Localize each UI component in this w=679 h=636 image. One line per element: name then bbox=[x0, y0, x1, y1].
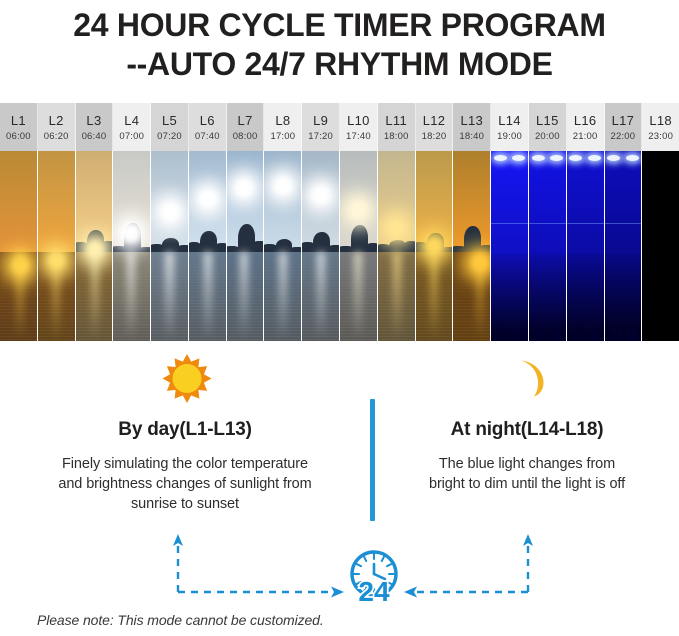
loop-right-arrowhead-up bbox=[523, 534, 533, 546]
day-description-line: Finely simulating the color temperature bbox=[8, 454, 362, 474]
led-lamp bbox=[494, 155, 507, 161]
timeline-cell-label: L5 bbox=[162, 113, 177, 128]
strip-panel-l7 bbox=[227, 151, 265, 341]
timeline-cell-label: L15 bbox=[536, 113, 559, 128]
timeline-cell-l2[interactable]: L206:20 bbox=[38, 103, 76, 151]
panel-led-row bbox=[567, 153, 604, 163]
timeline-cell-time: 06:40 bbox=[82, 131, 107, 142]
timeline-cell-time: 07:00 bbox=[119, 131, 144, 142]
section-divider bbox=[370, 399, 375, 521]
strip-panel-l14 bbox=[491, 151, 529, 341]
timeline-cell-time: 08:00 bbox=[233, 131, 258, 142]
panel-sun-reflection bbox=[165, 252, 173, 341]
strip-panel-l18 bbox=[642, 151, 679, 341]
timeline-cell-l17[interactable]: L1722:00 bbox=[605, 103, 643, 151]
panel-horizon-silhouette bbox=[453, 218, 490, 252]
timeline-cell-l16[interactable]: L1621:00 bbox=[567, 103, 605, 151]
night-description: The blue light changes from bright to di… bbox=[382, 454, 672, 494]
cycle-loop-diagram bbox=[0, 528, 679, 600]
panel-sun-reflection bbox=[204, 252, 212, 341]
timeline-cell-label: L6 bbox=[200, 113, 215, 128]
panel-horizon-silhouette bbox=[227, 218, 264, 252]
timeline-cell-l13[interactable]: L1318:40 bbox=[453, 103, 491, 151]
led-lamp bbox=[569, 155, 582, 161]
led-lamp bbox=[512, 155, 525, 161]
strip-panel-l4 bbox=[113, 151, 151, 341]
clock-24-icon: 24 bbox=[341, 548, 407, 604]
light-cycle-strip bbox=[0, 151, 679, 341]
panel-sun-reflection bbox=[91, 252, 99, 341]
panel-sun-glow bbox=[471, 254, 489, 272]
timeline-cell-l14[interactable]: L1419:00 bbox=[491, 103, 529, 151]
timeline-cell-l6[interactable]: L607:40 bbox=[189, 103, 227, 151]
timeline-cell-time: 22:00 bbox=[611, 131, 636, 142]
timeline-cell-l15[interactable]: L1520:00 bbox=[529, 103, 567, 151]
timeline-cell-time: 07:40 bbox=[195, 131, 220, 142]
timeline-cell-time: 18:20 bbox=[422, 131, 447, 142]
strip-panel-l11 bbox=[378, 151, 416, 341]
strip-panel-l15 bbox=[529, 151, 567, 341]
led-lamp bbox=[532, 155, 545, 161]
panel-horizon-silhouette bbox=[151, 218, 188, 252]
led-lamp bbox=[626, 155, 639, 161]
timeline-cell-label: L3 bbox=[86, 113, 101, 128]
panel-night-background bbox=[642, 151, 679, 341]
panel-waterline bbox=[605, 223, 642, 224]
timeline-cell-label: L17 bbox=[612, 113, 635, 128]
timeline-cell-l1[interactable]: L106:00 bbox=[0, 103, 38, 151]
legend-icons bbox=[0, 349, 679, 409]
panel-waterline bbox=[529, 223, 566, 224]
title-line-2: --AUTO 24/7 RHYTHM MODE bbox=[0, 45, 679, 84]
panel-plants bbox=[529, 254, 566, 341]
day-section: By day(L1-L13) Finely simulating the col… bbox=[8, 418, 362, 514]
night-description-line: The blue light changes from bbox=[382, 454, 672, 474]
timeline-cell-time: 17:00 bbox=[270, 131, 295, 142]
timeline-cell-l12[interactable]: L1218:20 bbox=[416, 103, 454, 151]
led-lamp bbox=[550, 155, 563, 161]
strip-panel-l9 bbox=[302, 151, 340, 341]
strip-panel-l5 bbox=[151, 151, 189, 341]
timeline-cell-label: L9 bbox=[313, 113, 328, 128]
timeline-cell-l18[interactable]: L1823:00 bbox=[642, 103, 679, 151]
panel-sun-glow bbox=[86, 240, 104, 258]
panel-sun-reflection bbox=[430, 252, 438, 341]
night-description-line: bright to dim until the light is off bbox=[382, 474, 672, 494]
timeline-cell-label: L12 bbox=[423, 113, 446, 128]
timeline-cell-label: L4 bbox=[124, 113, 139, 128]
night-title: At night(L14-L18) bbox=[382, 418, 672, 442]
strip-panel-l16 bbox=[567, 151, 605, 341]
strip-panel-l13 bbox=[453, 151, 491, 341]
timeline-cell-time: 06:00 bbox=[6, 131, 31, 142]
timeline-cell-label: L18 bbox=[649, 113, 672, 128]
timeline-cell-label: L11 bbox=[385, 113, 407, 128]
timeline-cell-time: 17:20 bbox=[308, 131, 333, 142]
panel-sun-glow bbox=[425, 237, 443, 255]
timeline-cell-time: 06:20 bbox=[44, 131, 69, 142]
day-description-line: and brightness changes of sunlight from bbox=[8, 474, 362, 494]
panel-sun-reflection bbox=[317, 252, 325, 341]
strip-panel-l17 bbox=[605, 151, 643, 341]
timeline-cell-label: L16 bbox=[574, 113, 597, 128]
panel-sun-glow bbox=[273, 176, 293, 196]
panel-horizon-silhouette bbox=[302, 218, 339, 252]
panel-horizon-silhouette bbox=[340, 218, 377, 252]
panel-horizon-silhouette bbox=[189, 218, 226, 252]
panel-sun-reflection bbox=[354, 252, 362, 341]
clock-24-label: 24 bbox=[358, 576, 390, 604]
panel-sun-glow bbox=[234, 178, 254, 198]
timeline-cell-label: L1 bbox=[11, 113, 26, 128]
timeline-cell-l9[interactable]: L917:20 bbox=[302, 103, 340, 151]
panel-waterline bbox=[491, 223, 528, 224]
panel-sun-reflection bbox=[127, 252, 135, 341]
timeline-cell-label: L2 bbox=[49, 113, 64, 128]
timeline-cell-label: L14 bbox=[498, 113, 521, 128]
strip-panel-l8 bbox=[264, 151, 302, 341]
timeline-cell-label: L10 bbox=[347, 113, 370, 128]
night-section: At night(L14-L18) The blue light changes… bbox=[382, 418, 672, 494]
strip-panel-l2 bbox=[38, 151, 76, 341]
panel-sun-glow bbox=[12, 257, 29, 274]
panel-sun-glow bbox=[198, 189, 218, 209]
panel-led-row bbox=[605, 153, 642, 163]
panel-horizon-silhouette bbox=[264, 218, 301, 252]
strip-panel-l10 bbox=[340, 151, 378, 341]
timeline-cell-label: L13 bbox=[460, 113, 483, 128]
timeline-cell-time: 17:40 bbox=[346, 131, 371, 142]
moon-icon bbox=[508, 355, 554, 401]
timeline-cell-time: 21:00 bbox=[573, 131, 598, 142]
timeline-cell-l4[interactable]: L407:00 bbox=[113, 103, 151, 151]
timeline-cell-l5[interactable]: L507:20 bbox=[151, 103, 189, 151]
sun-icon bbox=[161, 353, 213, 405]
panel-plants bbox=[605, 254, 642, 341]
timeline-cell-time: 23:00 bbox=[648, 131, 673, 142]
timeline-cell-label: L7 bbox=[238, 113, 253, 128]
timeline-cell-time: 19:00 bbox=[497, 131, 522, 142]
day-description: Finely simulating the color temperature … bbox=[8, 454, 362, 514]
strip-panel-l6 bbox=[189, 151, 227, 341]
panel-waterline bbox=[567, 223, 604, 224]
panel-sun-glow bbox=[160, 202, 180, 222]
strip-panel-l3 bbox=[76, 151, 114, 341]
panel-plants bbox=[567, 254, 604, 341]
panel-plants bbox=[491, 254, 528, 341]
led-lamp bbox=[588, 155, 601, 161]
panel-sun-reflection bbox=[240, 252, 248, 341]
day-description-line: sunrise to sunset bbox=[8, 494, 362, 514]
panel-sun-reflection bbox=[393, 252, 401, 341]
timeline-cell-l8[interactable]: L817:00 bbox=[264, 103, 302, 151]
strip-panel-l12 bbox=[416, 151, 454, 341]
timeline-cell-label: L8 bbox=[275, 113, 290, 128]
timeline-cell-l3[interactable]: L306:40 bbox=[76, 103, 114, 151]
panel-sun-reflection bbox=[279, 252, 287, 341]
led-lamp bbox=[607, 155, 620, 161]
timeline-header: L106:00L206:20L306:40L407:00L507:20L607:… bbox=[0, 103, 679, 151]
title-line-1: 24 HOUR CYCLE TIMER PROGRAM bbox=[0, 6, 679, 45]
timeline-cell-time: 07:20 bbox=[157, 131, 182, 142]
loop-left-arrowhead-up bbox=[173, 534, 183, 546]
timeline-cell-l7[interactable]: L708:00 bbox=[227, 103, 265, 151]
timeline-cell-l10[interactable]: L1017:40 bbox=[340, 103, 378, 151]
timeline-cell-time: 18:40 bbox=[459, 131, 484, 142]
panel-sun-glow bbox=[48, 252, 65, 269]
panel-led-row bbox=[491, 153, 528, 163]
timeline-cell-l11[interactable]: L1118:00 bbox=[378, 103, 416, 151]
page-title: 24 HOUR CYCLE TIMER PROGRAM --AUTO 24/7 … bbox=[0, 0, 679, 84]
timeline-cell-time: 18:00 bbox=[384, 131, 409, 142]
timeline-cell-time: 20:00 bbox=[535, 131, 560, 142]
panel-led-row bbox=[529, 153, 566, 163]
strip-panel-l1 bbox=[0, 151, 38, 341]
footer-note: Please note: This mode cannot be customi… bbox=[37, 612, 324, 628]
day-title: By day(L1-L13) bbox=[8, 418, 362, 442]
